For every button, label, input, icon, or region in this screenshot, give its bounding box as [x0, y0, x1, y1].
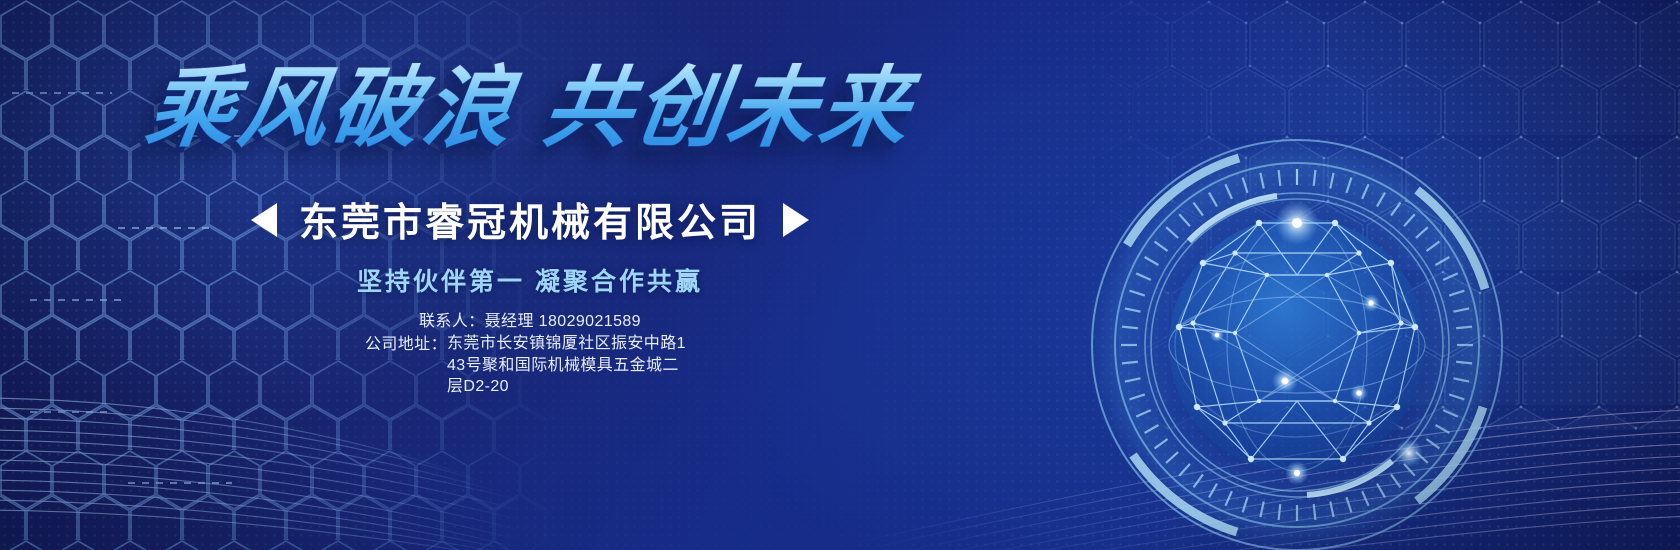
banner-content: 乘风破浪 共创未来 东莞市睿冠机械有限公司 坚持伙伴第一 凝聚合作共赢 联系人：… — [0, 0, 1060, 550]
contact-block: 联系人： 聂经理 18029021589 公司地址： 东莞市长安镇锦厦社区振安中… — [0, 310, 1060, 398]
contact-person-line: 联系人： 聂经理 18029021589 — [419, 310, 641, 333]
contact-address-line: 公司地址： 东莞市长安镇锦厦社区振安中路143号聚和国际机械模具五金城二层D2-… — [365, 333, 695, 398]
slogan: 坚持伙伴第一 凝聚合作共赢 — [0, 262, 1060, 298]
contact-person-label: 联系人： — [419, 310, 485, 333]
page-title: 乘风破浪 共创未来 — [0, 60, 1067, 155]
contact-address-label: 公司地址： — [365, 333, 447, 356]
company-name: 东莞市睿冠机械有限公司 — [299, 192, 761, 248]
promo-banner: 乘风破浪 共创未来 东莞市睿冠机械有限公司 坚持伙伴第一 凝聚合作共赢 联系人：… — [0, 0, 1680, 550]
right-triangle-icon — [783, 203, 809, 237]
contact-address-value: 东莞市长安镇锦厦社区振安中路143号聚和国际机械模具五金城二层D2-20 — [447, 333, 695, 398]
company-name-row: 东莞市睿冠机械有限公司 — [0, 192, 1060, 248]
left-triangle-icon — [251, 203, 277, 237]
contact-person-value: 聂经理 18029021589 — [485, 310, 641, 333]
